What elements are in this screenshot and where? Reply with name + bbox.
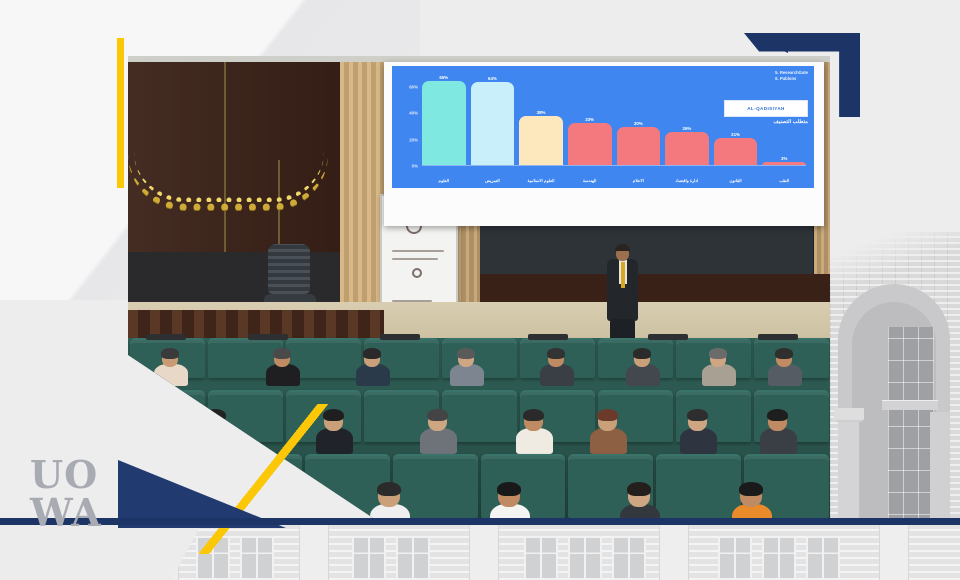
logo-line-2: WA (30, 494, 126, 532)
column-left (838, 418, 860, 534)
chart-bar (471, 82, 515, 166)
audience-seat (656, 454, 741, 518)
seat-writing-tablet (758, 334, 798, 340)
audience-person-shoulders (590, 428, 627, 454)
bar-category-label: القانون (708, 179, 764, 183)
chart-bar (665, 132, 709, 166)
audience-person-shoulders (680, 428, 717, 454)
window (568, 536, 602, 580)
window (524, 536, 558, 580)
bar-category-label: الهندسة (562, 179, 618, 183)
bar-category-label: العلوم الاسلامية (513, 179, 569, 183)
audience-person-shoulders (626, 364, 660, 386)
chart-bar (617, 127, 661, 166)
bar-value-label: 21% (714, 132, 758, 137)
y-tick-label: 0% (412, 164, 418, 169)
bar-chart: 0%20%40%60% 65%العلوم64%التمريض38%العلوم… (422, 74, 806, 166)
chart-bar-group: 3%الطب (762, 74, 806, 166)
office-chair-back (268, 244, 310, 294)
chart-bar-group: 26%ادارة واقتصاد (665, 74, 709, 166)
audience-person-hair (767, 409, 788, 421)
pilaster (660, 522, 688, 580)
chart-bar (519, 116, 563, 166)
audience-person-hair (363, 348, 381, 359)
audience-person-shoulders (266, 364, 300, 386)
bar-category-label: التمريض (465, 179, 521, 183)
bar-value-label: 64% (471, 76, 515, 81)
audience-person-hair (161, 348, 179, 359)
accent-bar-yellow-vertical (117, 38, 124, 188)
bar-category-label: العلوم (416, 179, 472, 183)
audience-person-hair (597, 409, 618, 421)
pilaster (470, 522, 498, 580)
audience-person-hair (457, 348, 475, 359)
seat-writing-tablet (380, 334, 420, 340)
chart-bar-group: 21%القانون (714, 74, 758, 166)
window (762, 536, 796, 580)
glass-curtain-wall (888, 327, 934, 537)
logo-line-1: UO (30, 456, 126, 494)
bar-value-label: 26% (665, 126, 709, 131)
window (718, 536, 752, 580)
seat-writing-tablet (146, 334, 186, 340)
chart-bar (714, 138, 758, 166)
chart-bar-group: 33%الهندسة (568, 74, 612, 166)
bar-value-label: 3% (762, 156, 806, 161)
chart-y-axis: 0%20%40%60% (396, 74, 420, 166)
column-capital (834, 408, 864, 420)
audience-person-shoulders (516, 428, 553, 454)
speaker-hair (615, 244, 630, 251)
presentation-slide: 5. ResearchGate 6. Publons AL-QADISIYAH … (392, 66, 814, 188)
audience-person-hair (627, 482, 651, 496)
chart-axis-baseline (422, 165, 806, 166)
audience-person-shoulders (540, 364, 574, 386)
accent-rule-navy-bottom (0, 518, 960, 525)
seat-writing-tablet (648, 334, 688, 340)
chart-bars: 65%العلوم64%التمريض38%العلوم الاسلامية33… (422, 74, 806, 166)
y-tick-label: 40% (409, 111, 418, 116)
window (806, 536, 840, 580)
chart-bar-group: 38%العلوم الاسلامية (519, 74, 563, 166)
y-tick-label: 20% (409, 137, 418, 142)
uowa-logo: UO WA (30, 456, 126, 534)
bar-value-label: 33% (568, 117, 612, 122)
window (612, 536, 646, 580)
audience-person-hair (547, 348, 565, 359)
audience-person-shoulders (768, 364, 802, 386)
chart-bar-group: 30%الاعلام (617, 74, 661, 166)
audience-person-hair (427, 409, 448, 421)
audience-person-shoulders (356, 364, 390, 386)
accent-rule-navy-right (830, 518, 960, 525)
audience-person-hair (633, 348, 651, 359)
pilaster (880, 522, 908, 580)
audience-person-hair (273, 348, 291, 359)
y-tick-label: 60% (409, 85, 418, 90)
audience-person-hair (523, 409, 544, 421)
chart-bar-group: 65%العلوم (422, 74, 466, 166)
audience-person-shoulders (702, 364, 736, 386)
bar-category-label: ادارة واقتصاد (659, 179, 715, 183)
audience-person-hair (739, 482, 763, 496)
audience-person-hair (775, 348, 793, 359)
gold-garland-highlight (134, 152, 324, 202)
bar-category-label: الطب (756, 179, 812, 183)
chart-bar (568, 123, 612, 166)
column-right (930, 412, 950, 534)
seat-writing-tablet (248, 334, 288, 340)
audience-person-hair (687, 409, 708, 421)
chart-bar (422, 81, 466, 166)
bar-value-label: 65% (422, 75, 466, 80)
bar-value-label: 38% (519, 110, 563, 115)
bar-category-label: الاعلام (611, 179, 667, 183)
seat-writing-tablet (528, 334, 568, 340)
audience-person-hair (709, 348, 727, 359)
chart-bar-group: 64%التمريض (471, 74, 515, 166)
speaker-tie (621, 262, 625, 288)
audience-person-shoulders (450, 364, 484, 386)
audience-person-shoulders (760, 428, 797, 454)
balcony (882, 400, 938, 410)
audience-person-hair (497, 482, 521, 496)
bar-value-label: 30% (617, 121, 661, 126)
